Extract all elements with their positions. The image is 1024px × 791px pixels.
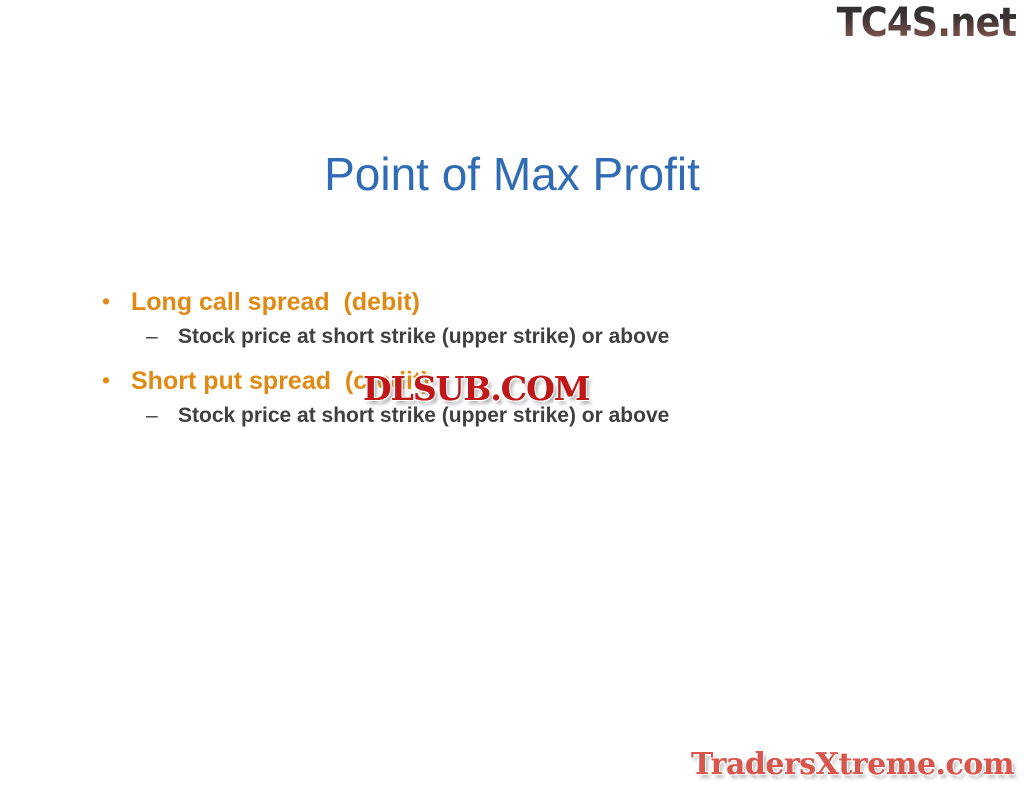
- bullet-dash-icon: –: [96, 322, 178, 351]
- tradersxtreme-logo: TradersXtreme.com TradersXtreme.com: [691, 747, 1014, 783]
- list-item-level1: • Long call spread (debit): [96, 286, 936, 318]
- dlsub-watermark-fill: DLSUB.COM: [363, 370, 589, 408]
- list-item-level2-label: Stock price at short strike (upper strik…: [178, 322, 669, 351]
- list-item-level1-label: Long call spread (debit): [131, 286, 420, 318]
- tc4s-site-logo: TC4S.net: [836, 2, 1016, 44]
- bullet-dot-icon: •: [96, 365, 131, 395]
- page-title: Point of Max Profit: [0, 149, 1024, 200]
- bullet-list: • Long call spread (debit) – Stock price…: [96, 286, 936, 444]
- slide-canvas: TC4S.net Point of Max Profit • Long call…: [0, 0, 1024, 791]
- bullet-dot-icon: •: [96, 286, 131, 316]
- bullet-dash-icon: –: [96, 401, 178, 430]
- dlsub-watermark: DLSUB.COM DLSUB.COM: [363, 370, 589, 408]
- tradersxtreme-logo-fill: TradersXtreme.com: [691, 747, 1014, 783]
- list-item-level2: – Stock price at short strike (upper str…: [96, 322, 936, 351]
